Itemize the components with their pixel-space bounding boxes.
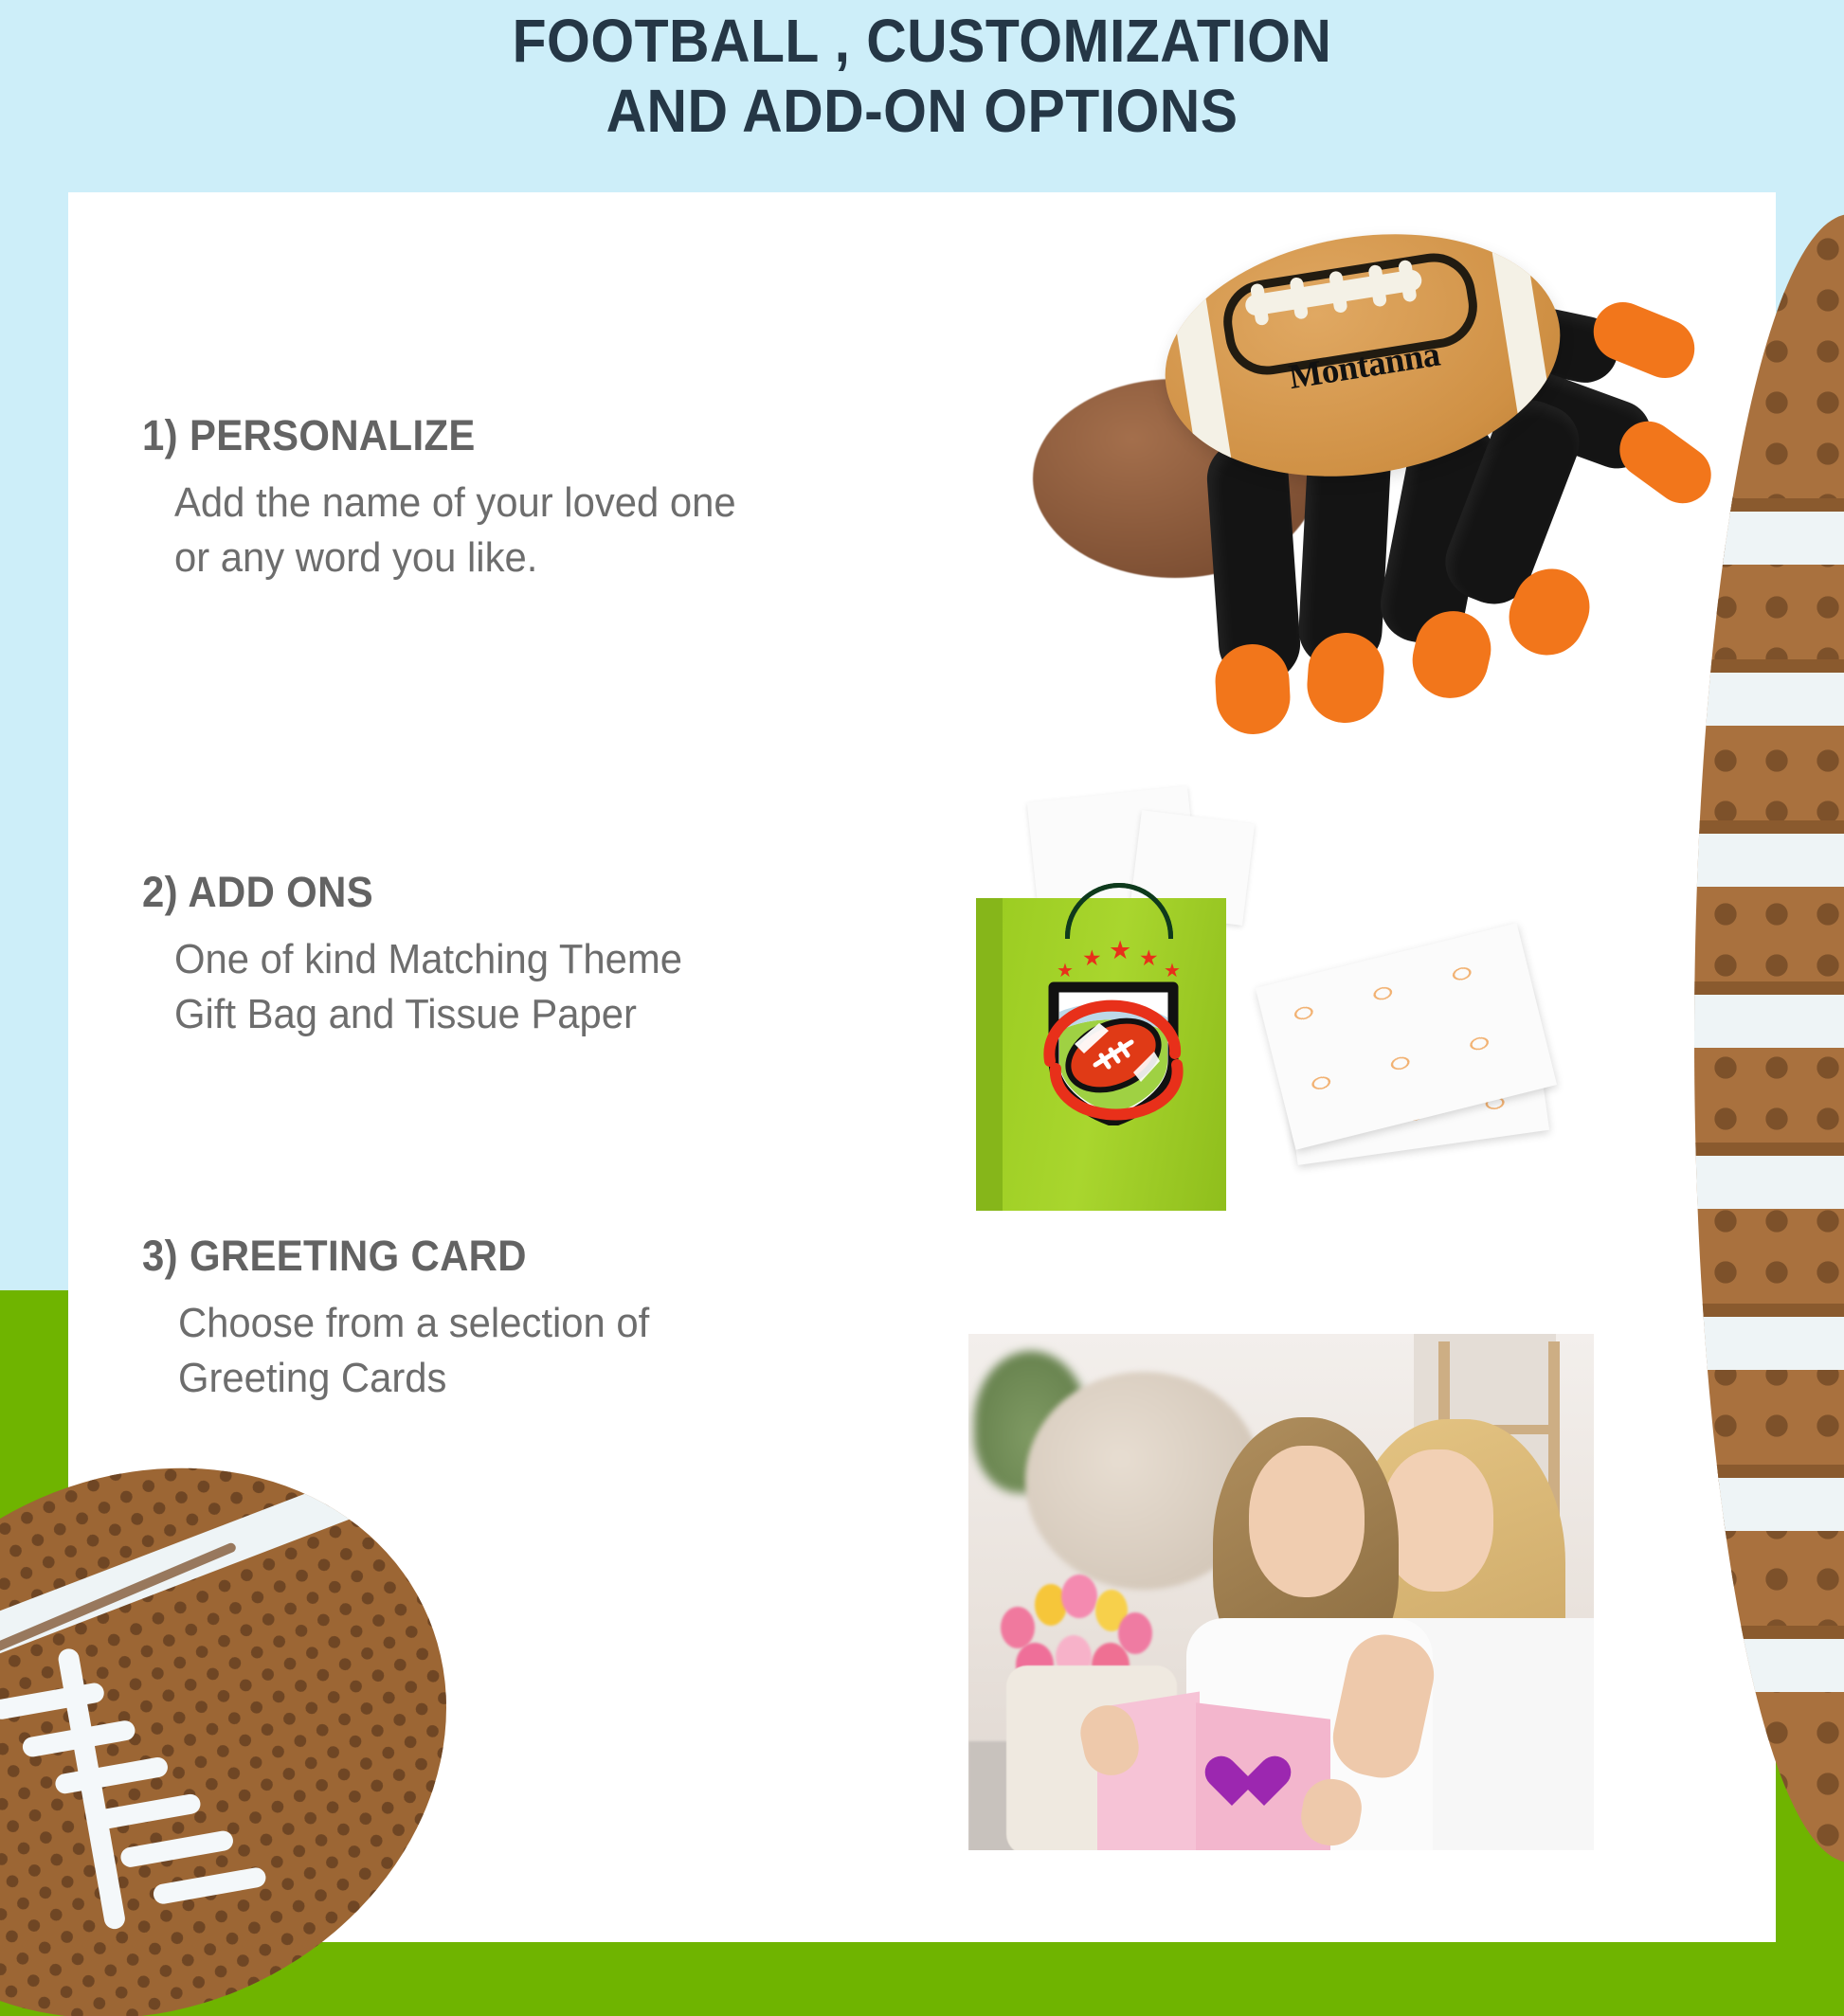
- step-2-body: One of kind Matching Theme Gift Bag and …: [174, 932, 682, 1042]
- football-seam: [1694, 1626, 1844, 1639]
- football-lace-stripe: [1694, 1317, 1844, 1370]
- tissue-paper-stack: [1268, 934, 1552, 1171]
- step-1-personalize: 1) PERSONALIZE Add the name of your love…: [142, 411, 766, 585]
- photo-daughter-face: [1249, 1446, 1365, 1597]
- step-2-add-ons: 2) ADD ONS One of kind Matching Theme Gi…: [142, 868, 709, 1042]
- football-seam: [1694, 1304, 1844, 1317]
- step-3-heading: 3) GREETING CARD: [142, 1232, 637, 1281]
- page-title: FOOTBALL , CUSTOMIZATION AND ADD-ON OPTI…: [74, 6, 1770, 146]
- star-icon: ★: [1139, 945, 1159, 970]
- football-spider-plush-image: Montanna: [1023, 237, 1725, 692]
- tulip: [1061, 1575, 1097, 1618]
- star-icon: ★: [1082, 945, 1102, 970]
- infographic-stage: FOOTBALL , CUSTOMIZATION AND ADD-ON OPTI…: [0, 0, 1844, 2016]
- step-1-heading: 1) PERSONALIZE: [142, 411, 722, 460]
- plush-toe: [1214, 642, 1293, 736]
- greeting-card-photo: [968, 1334, 1594, 1850]
- step-1-body: Add the name of your loved one or any wo…: [174, 476, 736, 585]
- step-3-body: Choose from a selection of Greeting Card…: [178, 1296, 649, 1406]
- gift-bag-and-tissue-image: ★ ★ ★ ★ ★: [967, 777, 1725, 1251]
- star-icon: ★: [1109, 938, 1131, 963]
- football-lace-stripe: [1694, 1478, 1844, 1531]
- step-3-greeting-card: 3) GREETING CARD Choose from a selection…: [142, 1232, 674, 1406]
- step-2-heading: 2) ADD ONS: [142, 868, 669, 917]
- tulip: [1001, 1607, 1035, 1648]
- football-seam: [1694, 1465, 1844, 1478]
- football-lace-stripe: [1694, 1639, 1844, 1692]
- heart-icon: [1232, 1758, 1291, 1811]
- football-shield-emblem: [1042, 974, 1184, 1125]
